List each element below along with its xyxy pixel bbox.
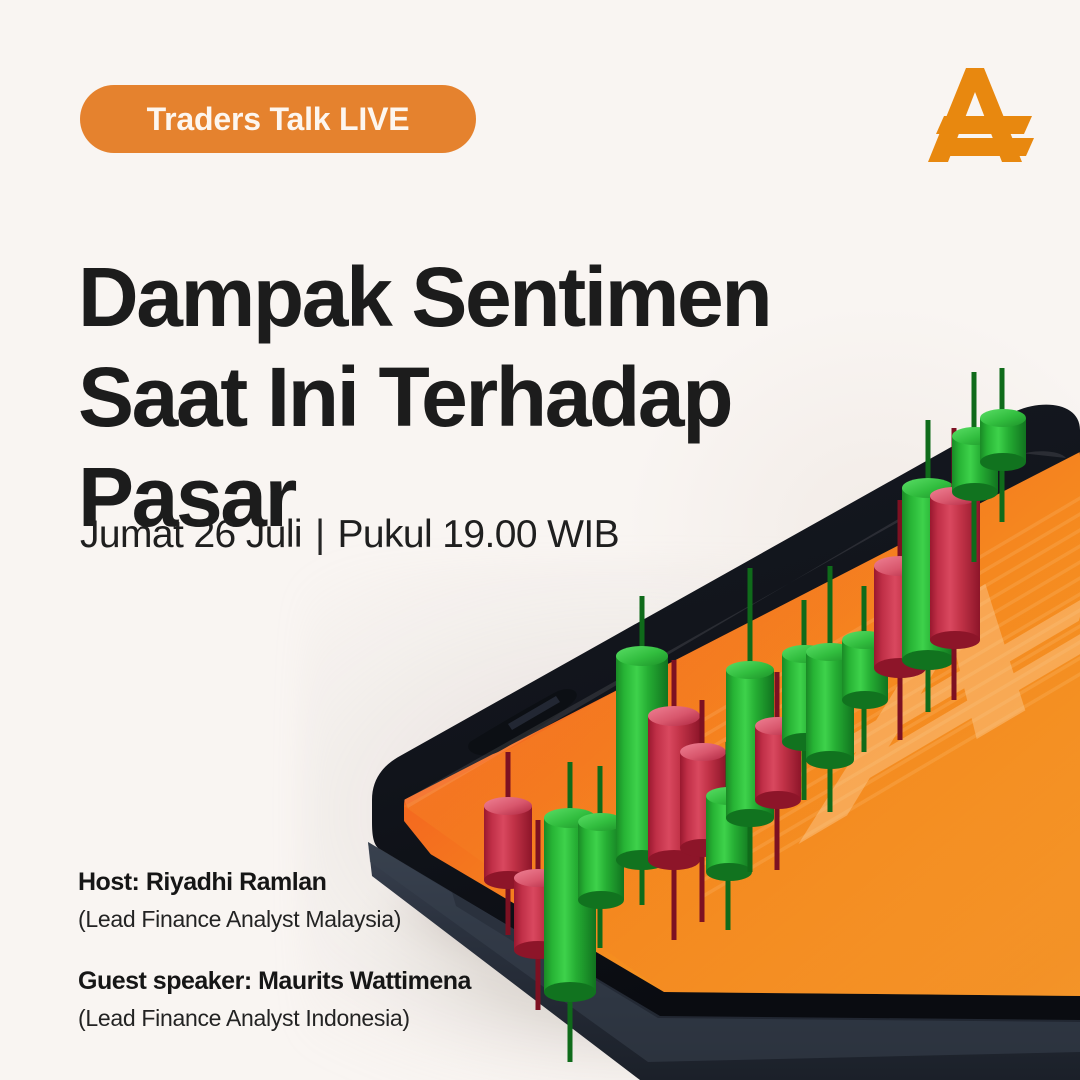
schedule-line: Jumat 26 Juli | Pukul 19.00 WIB: [80, 513, 619, 557]
headline-line-1: Dampak Sentimen: [78, 248, 818, 348]
schedule-time: Pukul 19.00 WIB: [338, 513, 619, 557]
credit-guest-role: (Lead Finance Analyst Indonesia): [78, 1002, 471, 1035]
credit-guest: Guest speaker: Maurits Wattimena (Lead F…: [78, 965, 471, 1034]
live-badge[interactable]: Traders Talk LIVE: [80, 85, 476, 153]
promo-poster: Traders Talk LIVE Dampak Sentimen Saat I…: [0, 0, 1080, 1080]
letter-a-monogram-icon: [920, 58, 1038, 170]
live-badge-label: Traders Talk LIVE: [147, 101, 410, 138]
credit-host: Host: Riyadhi Ramlan (Lead Finance Analy…: [78, 866, 471, 935]
headline-line-2: Saat Ini Terhadap: [78, 348, 818, 448]
schedule-date: Jumat 26 Juli: [80, 513, 302, 557]
credit-host-name: Host: Riyadhi Ramlan: [78, 866, 471, 900]
credit-host-role: (Lead Finance Analyst Malaysia): [78, 903, 471, 936]
page-title: Dampak Sentimen Saat Ini Terhadap Pasar: [78, 248, 818, 548]
credit-guest-name: Guest speaker: Maurits Wattimena: [78, 965, 471, 999]
speaker-credits: Host: Riyadhi Ramlan (Lead Finance Analy…: [78, 866, 471, 1035]
schedule-separator: |: [315, 513, 325, 557]
